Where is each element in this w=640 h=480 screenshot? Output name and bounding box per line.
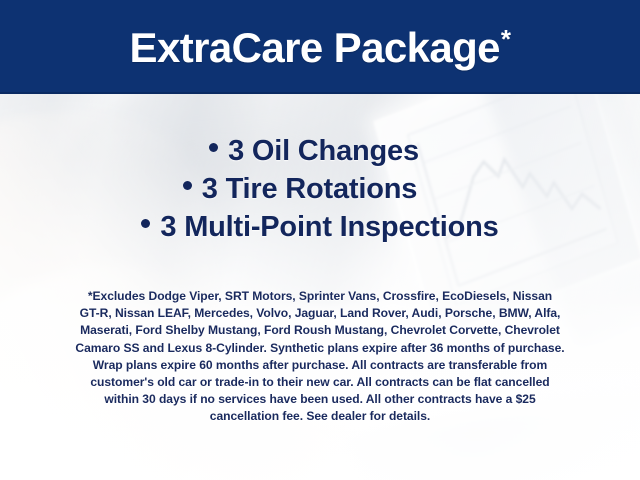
extracare-package-ad: ExtraCare Package* 3 Oil Changes 3 Tire …	[0, 0, 640, 480]
disclaimer-line: cancellation fee. See dealer for details…	[26, 408, 614, 425]
bullet-dot-icon	[209, 143, 218, 152]
page-title-text: ExtraCare Package	[130, 24, 500, 71]
disclaimer-text: *Excludes Dodge Viper, SRT Motors, Sprin…	[26, 288, 614, 426]
disclaimer-line: GT-R, Nissan LEAF, Mercedes, Volvo, Jagu…	[26, 305, 614, 322]
list-item: 3 Tire Rotations	[0, 170, 640, 208]
benefit-label-3: 3 Multi-Point Inspections	[160, 211, 498, 243]
page-title-asterisk: *	[501, 24, 511, 54]
disclaimer-line: customer's old car or trade-in to their …	[26, 374, 614, 391]
disclaimer-line: Camaro SS and Lexus 8-Cylinder. Syntheti…	[26, 340, 614, 357]
benefits-list: 3 Oil Changes 3 Tire Rotations 3 Multi-P…	[0, 132, 640, 246]
disclaimer-line: within 30 days if no services have been …	[26, 391, 614, 408]
page-title: ExtraCare Package*	[130, 26, 511, 69]
list-item: 3 Oil Changes	[0, 132, 640, 170]
list-item: 3 Multi-Point Inspections	[0, 208, 640, 246]
disclaimer-line: *Excludes Dodge Viper, SRT Motors, Sprin…	[26, 288, 614, 305]
disclaimer-line: Wrap plans expire 60 months after purcha…	[26, 357, 614, 374]
bullet-dot-icon	[141, 219, 150, 228]
bullet-dot-icon	[183, 181, 192, 190]
benefit-label-2: 3 Tire Rotations	[202, 173, 417, 205]
benefit-label-1: 3 Oil Changes	[228, 135, 419, 167]
header-banner: ExtraCare Package*	[0, 0, 640, 94]
disclaimer-line: Maserati, Ford Shelby Mustang, Ford Rous…	[26, 322, 614, 339]
